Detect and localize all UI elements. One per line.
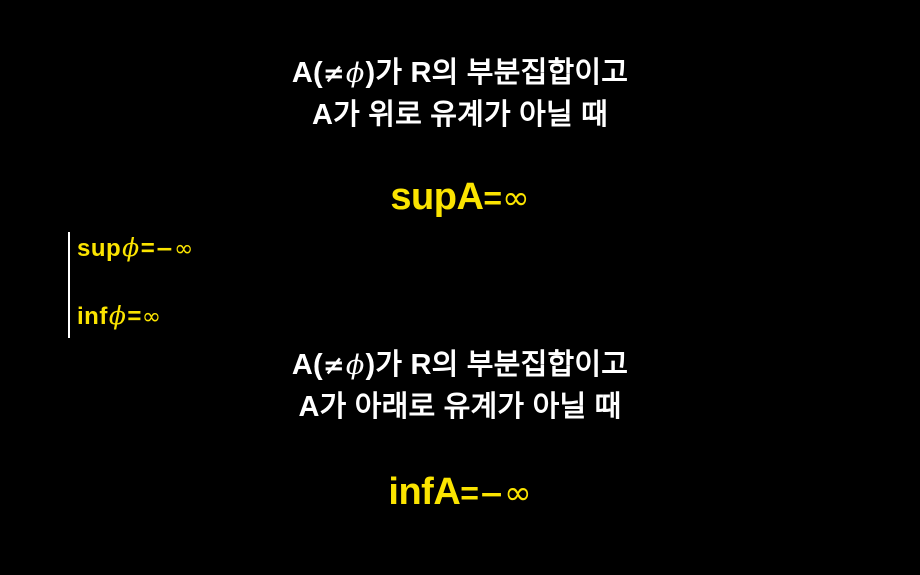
phi-icon: ϕ	[108, 301, 128, 330]
side-note-rule	[68, 232, 70, 338]
condition-lower-line1-prefix: A(	[292, 349, 323, 381]
condition-lower-line1: A(≠ϕ)가 R의 부분집합이고	[0, 345, 920, 387]
condition-lower-line1-suffix: )가 R의 부분집합이고	[366, 349, 629, 381]
result-inf-equals: =	[460, 475, 479, 511]
minus-icon: −	[479, 477, 504, 512]
condition-statement-lower: A(≠ϕ)가 R의 부분집합이고 A가 아래로 유계가 아닐 때	[0, 345, 920, 428]
condition-statement-upper: A(≠ϕ)가 R의 부분집합이고 A가 위로 유계가 아닐 때	[0, 53, 920, 136]
condition-upper-line1-suffix: )가 R의 부분집합이고	[366, 57, 629, 89]
infinity-icon: ∞	[502, 178, 530, 217]
infinity-icon: ∞	[504, 473, 532, 512]
condition-lower-line2: A가 아래로 유계가 아닐 때	[0, 387, 920, 428]
slide-canvas: A(≠ϕ)가 R의 부분집합이고 A가 위로 유계가 아닐 때 supA=∞ s…	[0, 0, 920, 575]
side-note-sup-empty: supϕ=−∞	[77, 233, 194, 263]
side-note-inf-equals: =	[127, 303, 142, 330]
phi-icon: ϕ	[345, 58, 366, 89]
side-note-inf-operator: inf	[77, 303, 108, 330]
condition-upper-line2: A가 위로 유계가 아닐 때	[0, 95, 920, 136]
infinity-icon: ∞	[174, 236, 194, 262]
side-note-sup-equals: =	[141, 235, 156, 262]
condition-upper-line1-prefix: A(	[292, 57, 323, 89]
minus-icon: −	[155, 237, 174, 262]
phi-icon: ϕ	[345, 350, 366, 381]
phi-icon: ϕ	[121, 233, 141, 262]
side-note-inf-empty: infϕ=∞	[77, 301, 162, 331]
result-inf-head: infA	[388, 471, 460, 513]
not-equal-icon: ≠	[323, 351, 345, 381]
not-equal-icon: ≠	[323, 59, 345, 89]
result-sup-equals: =	[483, 180, 502, 216]
infinity-icon: ∞	[142, 304, 162, 330]
result-equation-inf: infA=−∞	[0, 471, 920, 514]
side-note-sup-operator: sup	[77, 235, 121, 262]
condition-upper-line1: A(≠ϕ)가 R의 부분집합이고	[0, 53, 920, 95]
result-equation-sup: supA=∞	[0, 176, 920, 219]
result-sup-head: supA	[390, 176, 483, 218]
